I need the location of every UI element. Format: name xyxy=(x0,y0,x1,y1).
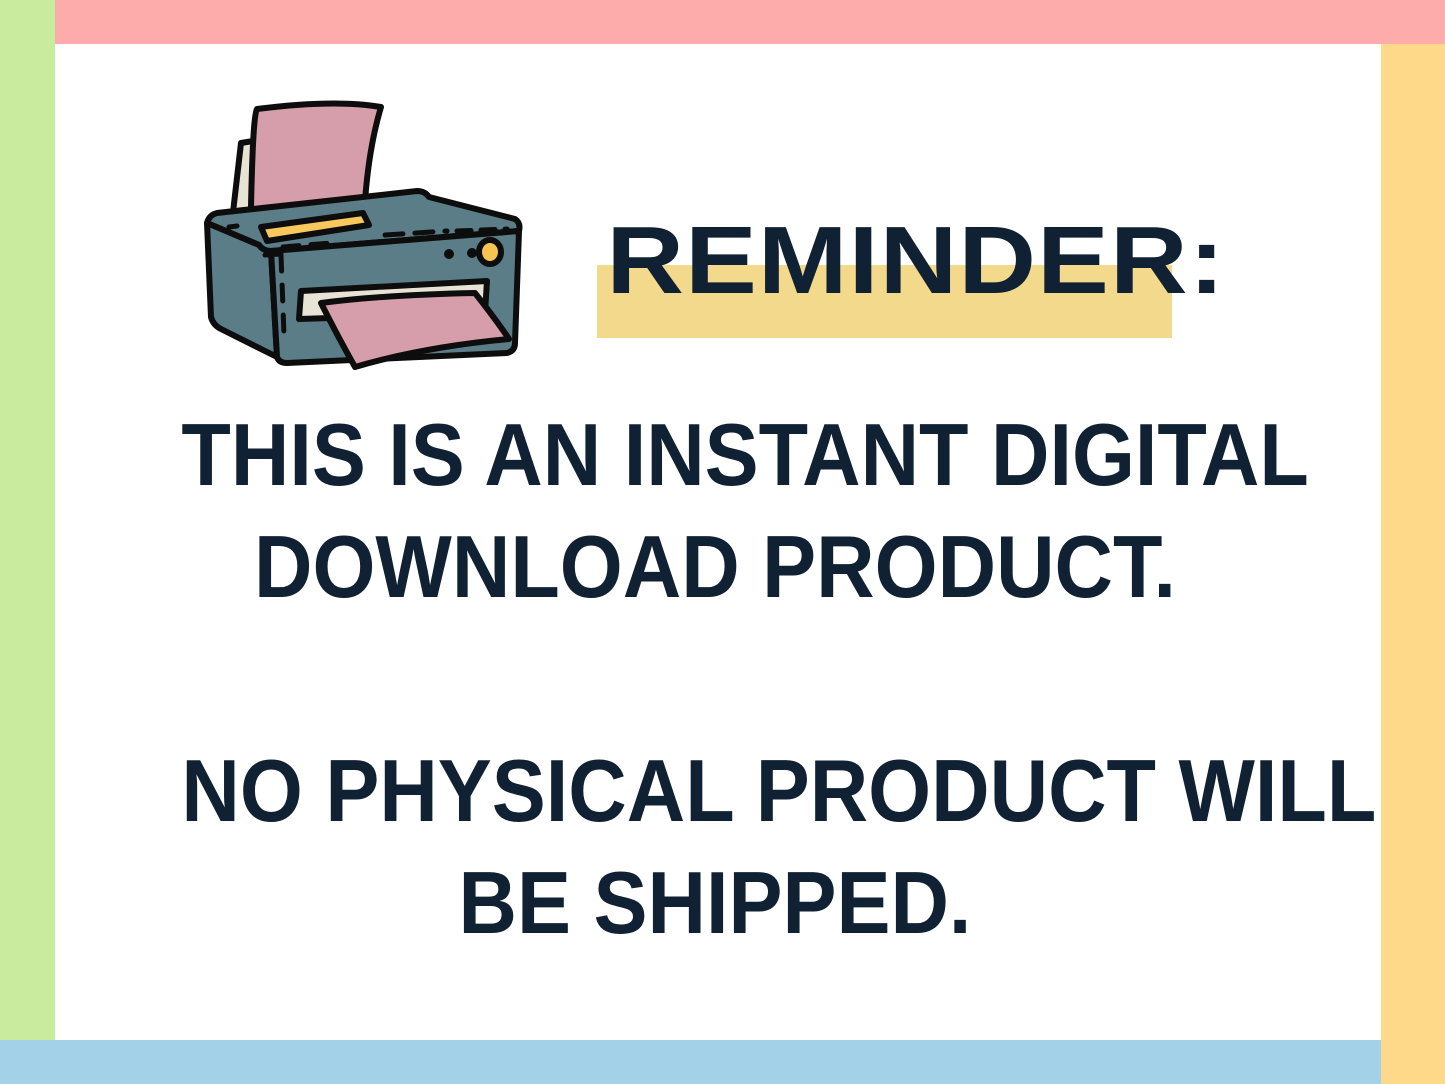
body-line: DOWNLOAD PRODUCT. xyxy=(181,511,1248,623)
paragraph-gap xyxy=(135,623,1295,735)
printer-icon xyxy=(185,95,545,385)
heading-block: REMINDER: xyxy=(580,209,1220,389)
body-line: THIS IS AN INSTANT DIGITAL xyxy=(181,399,1248,511)
body-line: NO PHYSICAL PRODUCT WILL xyxy=(181,735,1248,847)
border-band-left xyxy=(0,0,55,1040)
border-band-top xyxy=(55,0,1445,44)
body-line: BE SHIPPED. xyxy=(181,847,1248,959)
poster-canvas: REMINDER: THIS IS AN INSTANT DIGITAL DOW… xyxy=(0,0,1445,1084)
border-band-bottom xyxy=(0,1040,1381,1084)
body-copy: THIS IS AN INSTANT DIGITAL DOWNLOAD PROD… xyxy=(135,399,1295,959)
border-band-right xyxy=(1381,44,1445,1084)
content-panel: REMINDER: THIS IS AN INSTANT DIGITAL DOW… xyxy=(55,44,1381,1040)
page-title: REMINDER: xyxy=(580,209,1252,313)
